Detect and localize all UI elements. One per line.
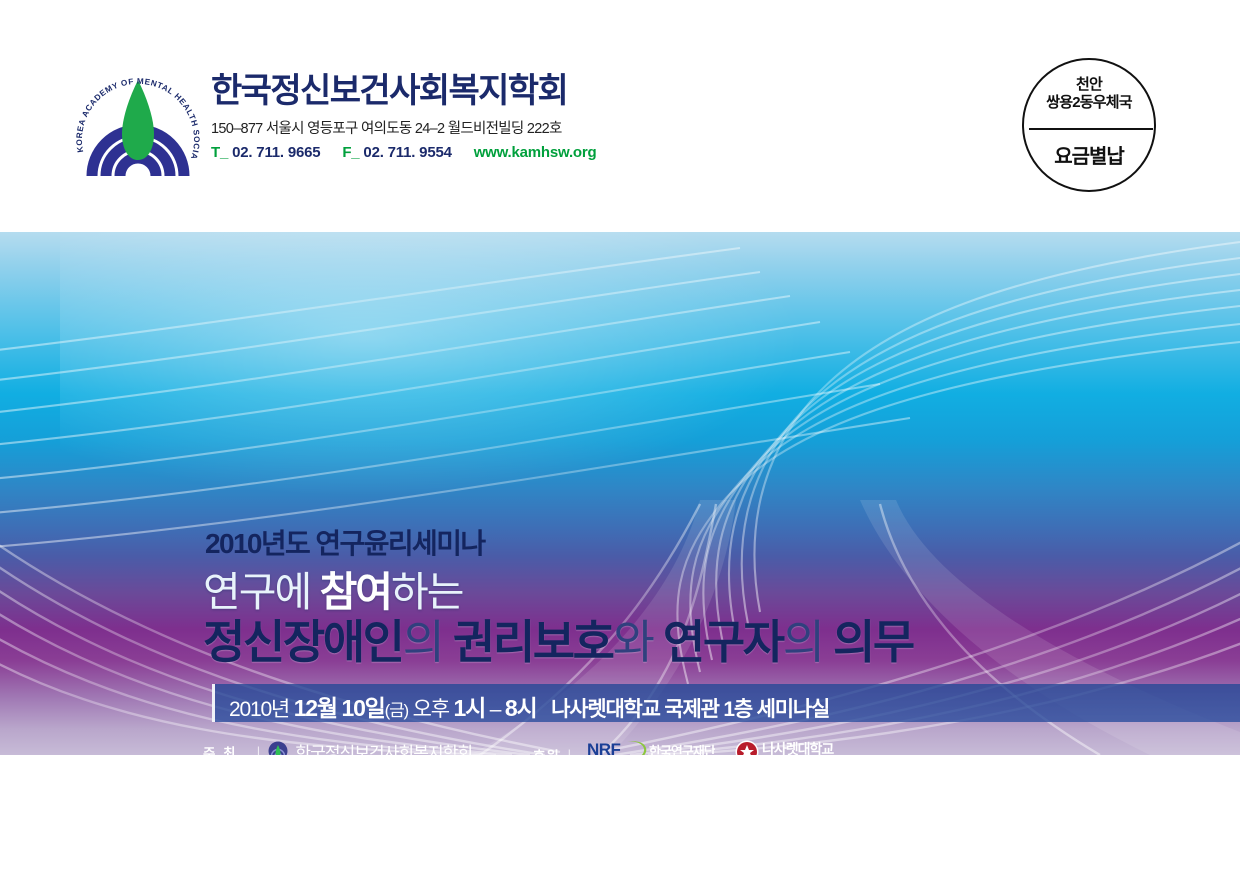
host-separator: | xyxy=(253,744,263,755)
fax-label: F_ xyxy=(342,144,359,161)
kamhsw-mini-emblem-icon xyxy=(268,741,288,755)
nrf-logo-icon: NRF National Research Foundation of Kore… xyxy=(587,739,715,755)
event-banner: 2010년도 연구윤리세미나 연구에 참여하는 정신장애인의 권리보호와 연구자… xyxy=(0,232,1240,755)
date-day: 10일 xyxy=(341,695,384,721)
title-l2-part3: 권리보호 xyxy=(453,616,613,668)
organization-contact: T_ 02. 711. 9665 F_ 02. 711. 9554 www.ka… xyxy=(211,144,631,161)
postal-stamp: 천안 쌍용2동우체국 요금별납 xyxy=(1022,58,1156,192)
time-start: 1시 xyxy=(454,695,486,721)
banner-flowline-decoration xyxy=(0,232,1240,755)
seminar-kicker: 2010년도 연구윤리세미나 xyxy=(205,522,485,562)
footer-whitespace xyxy=(0,755,1240,885)
svg-text:한국연구재단: 한국연구재단 xyxy=(649,744,715,755)
organization-name: 한국정신보건사회복지학회 xyxy=(211,74,631,108)
host-label: 주 최 xyxy=(203,742,249,756)
postal-stamp-divider xyxy=(1029,128,1153,130)
postal-stamp-branch: 쌍용2동우체국 xyxy=(1046,94,1132,111)
date-weekday: (금) xyxy=(385,701,408,720)
kamhsw-emblem-icon: KOREA ACADEMY OF MENTAL HEALTH SOCIAL WO… xyxy=(68,58,208,198)
organization-block: KOREA ACADEMY OF MENTAL HEALTH SOCIAL WO… xyxy=(68,56,628,201)
postal-stamp-type: 요금별납 xyxy=(1024,140,1154,169)
date-month: 12월 xyxy=(294,695,337,721)
organization-text: 한국정신보건사회복지학회 150–877 서울시 영등포구 여의도동 24–2 … xyxy=(211,74,631,161)
event-info-block: 주 최 | 한국정신보건사회복지학회 후원 | xyxy=(203,739,1203,755)
title-l2-part4: 와 xyxy=(613,616,653,668)
svg-text:나사렛대학교: 나사렛대학교 xyxy=(762,741,834,755)
date-ampm: 오후 xyxy=(413,698,449,721)
title-l2-part7: 의무 xyxy=(833,616,913,668)
nrf-logo: NRF National Research Foundation of Kore… xyxy=(587,739,715,755)
postal-stamp-office: 천안 쌍용2동우체국 xyxy=(1024,76,1154,113)
time-dash: – xyxy=(490,698,500,721)
title-l2-part1: 정신장애인 xyxy=(203,616,403,668)
sponsor-group: 후원 | NRF National Research Foundation of… xyxy=(533,739,865,755)
nazarene-university-logo-icon: 나사렛대학교 KOREA NAZARENE UNIVERSITY xyxy=(735,739,865,755)
nazarene-logo: 나사렛대학교 KOREA NAZARENE UNIVERSITY xyxy=(735,739,865,755)
poster-page: KOREA ACADEMY OF MENTAL HEALTH SOCIAL WO… xyxy=(0,0,1240,885)
fax-number: 02. 711. 9554 xyxy=(363,144,451,161)
sponsor-separator: | xyxy=(564,747,574,755)
time-end: 8시 xyxy=(505,695,537,721)
postal-stamp-region: 천안 xyxy=(1076,76,1102,93)
svg-text:NRF: NRF xyxy=(587,740,621,755)
date-venue-bar: 2010년 12월 10일(금) 오후 1시 – 8시 나사렛대학교 국제관 1… xyxy=(212,684,1240,722)
organization-address: 150–877 서울시 영등포구 여의도동 24–2 월드비전빌딩 222호 xyxy=(211,117,631,138)
info-row-host: 주 최 | 한국정신보건사회복지학회 후원 | xyxy=(203,739,1203,755)
title-l2-part6: 의 xyxy=(783,616,823,668)
header: KOREA ACADEMY OF MENTAL HEALTH SOCIAL WO… xyxy=(0,0,1240,232)
host-name: 한국정신보건사회복지학회 xyxy=(295,739,472,755)
seminar-title-line2: 정신장애인의 권리보호와 연구자의 의무 xyxy=(203,606,913,672)
date-venue-text: 2010년 12월 10일(금) 오후 1시 – 8시 나사렛대학교 국제관 1… xyxy=(229,689,829,723)
venue-name: 나사렛대학교 국제관 1층 세미나실 xyxy=(551,698,829,721)
sponsor-label: 후원 xyxy=(533,745,560,756)
tel-number: 02. 711. 9665 xyxy=(232,144,320,161)
title-l2-part5: 연구자 xyxy=(663,616,783,668)
date-year: 2010년 xyxy=(229,698,289,721)
website-link[interactable]: www.kamhsw.org xyxy=(474,144,597,161)
title-l2-part2: 의 xyxy=(403,616,443,668)
tel-label: T_ xyxy=(211,144,228,161)
